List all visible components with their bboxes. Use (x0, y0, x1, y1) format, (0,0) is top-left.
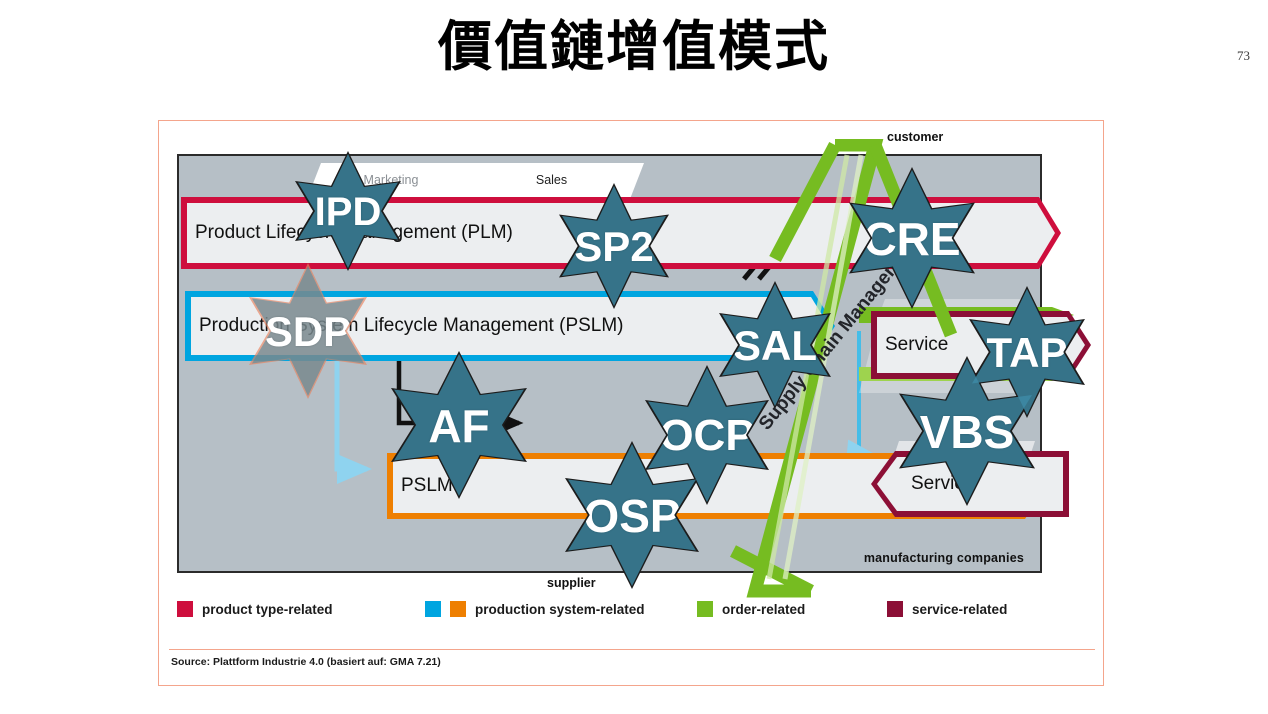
band-pslm-bottom-label: PSLM (387, 475, 453, 497)
star-sdp-label: SDP (265, 308, 351, 356)
star-cre-label: CRE (863, 212, 960, 266)
star-sp2-label: SP2 (574, 223, 653, 271)
legend: product type-related production system-r… (177, 594, 1087, 624)
legend-item-order-related: order-related (697, 601, 887, 617)
source-text: Source: Plattform Industrie 4.0 (basiert… (171, 656, 441, 668)
supplier-label: supplier (547, 576, 596, 590)
manufacturing-companies-label: manufacturing companies (864, 551, 1024, 565)
star-vbs-label: VBS (920, 405, 1015, 459)
page-title: 價值鏈增值模式 (0, 16, 1268, 78)
legend-swatch-product-type (177, 601, 193, 617)
legend-item-production-system-related: production system-related (425, 601, 697, 617)
band-pslm-top-label: Production System Lifecycle Management (… (185, 315, 624, 337)
legend-swatch-production-system-cyan (425, 601, 441, 617)
figure-frame: manufacturing companies Marketing Sales … (158, 120, 1104, 686)
legend-swatch-production-system-orange (450, 601, 466, 617)
star-ocp-label: OCP (659, 411, 754, 461)
legend-item-service-related: service-related (887, 601, 1007, 617)
legend-swatch-service (887, 601, 903, 617)
star-osp-label: OSP (583, 489, 680, 543)
star-af-label: AF (428, 399, 489, 453)
legend-swatch-order (697, 601, 713, 617)
source-divider (169, 649, 1095, 650)
page-number: 73 (1237, 48, 1250, 64)
star-sal-label: SAL (733, 322, 817, 370)
legend-label-service: service-related (912, 602, 1007, 617)
legend-item-product-type-related: product type-related (177, 601, 425, 617)
legend-label-order: order-related (722, 602, 805, 617)
band-service-top-label: Service (871, 334, 948, 356)
star-tap-label: TAP (987, 329, 1068, 377)
star-ipd-label: IPD (315, 190, 382, 235)
legend-label-product-type: product type-related (202, 602, 333, 617)
customer-label: customer (887, 130, 943, 144)
legend-label-production-system: production system-related (475, 602, 645, 617)
